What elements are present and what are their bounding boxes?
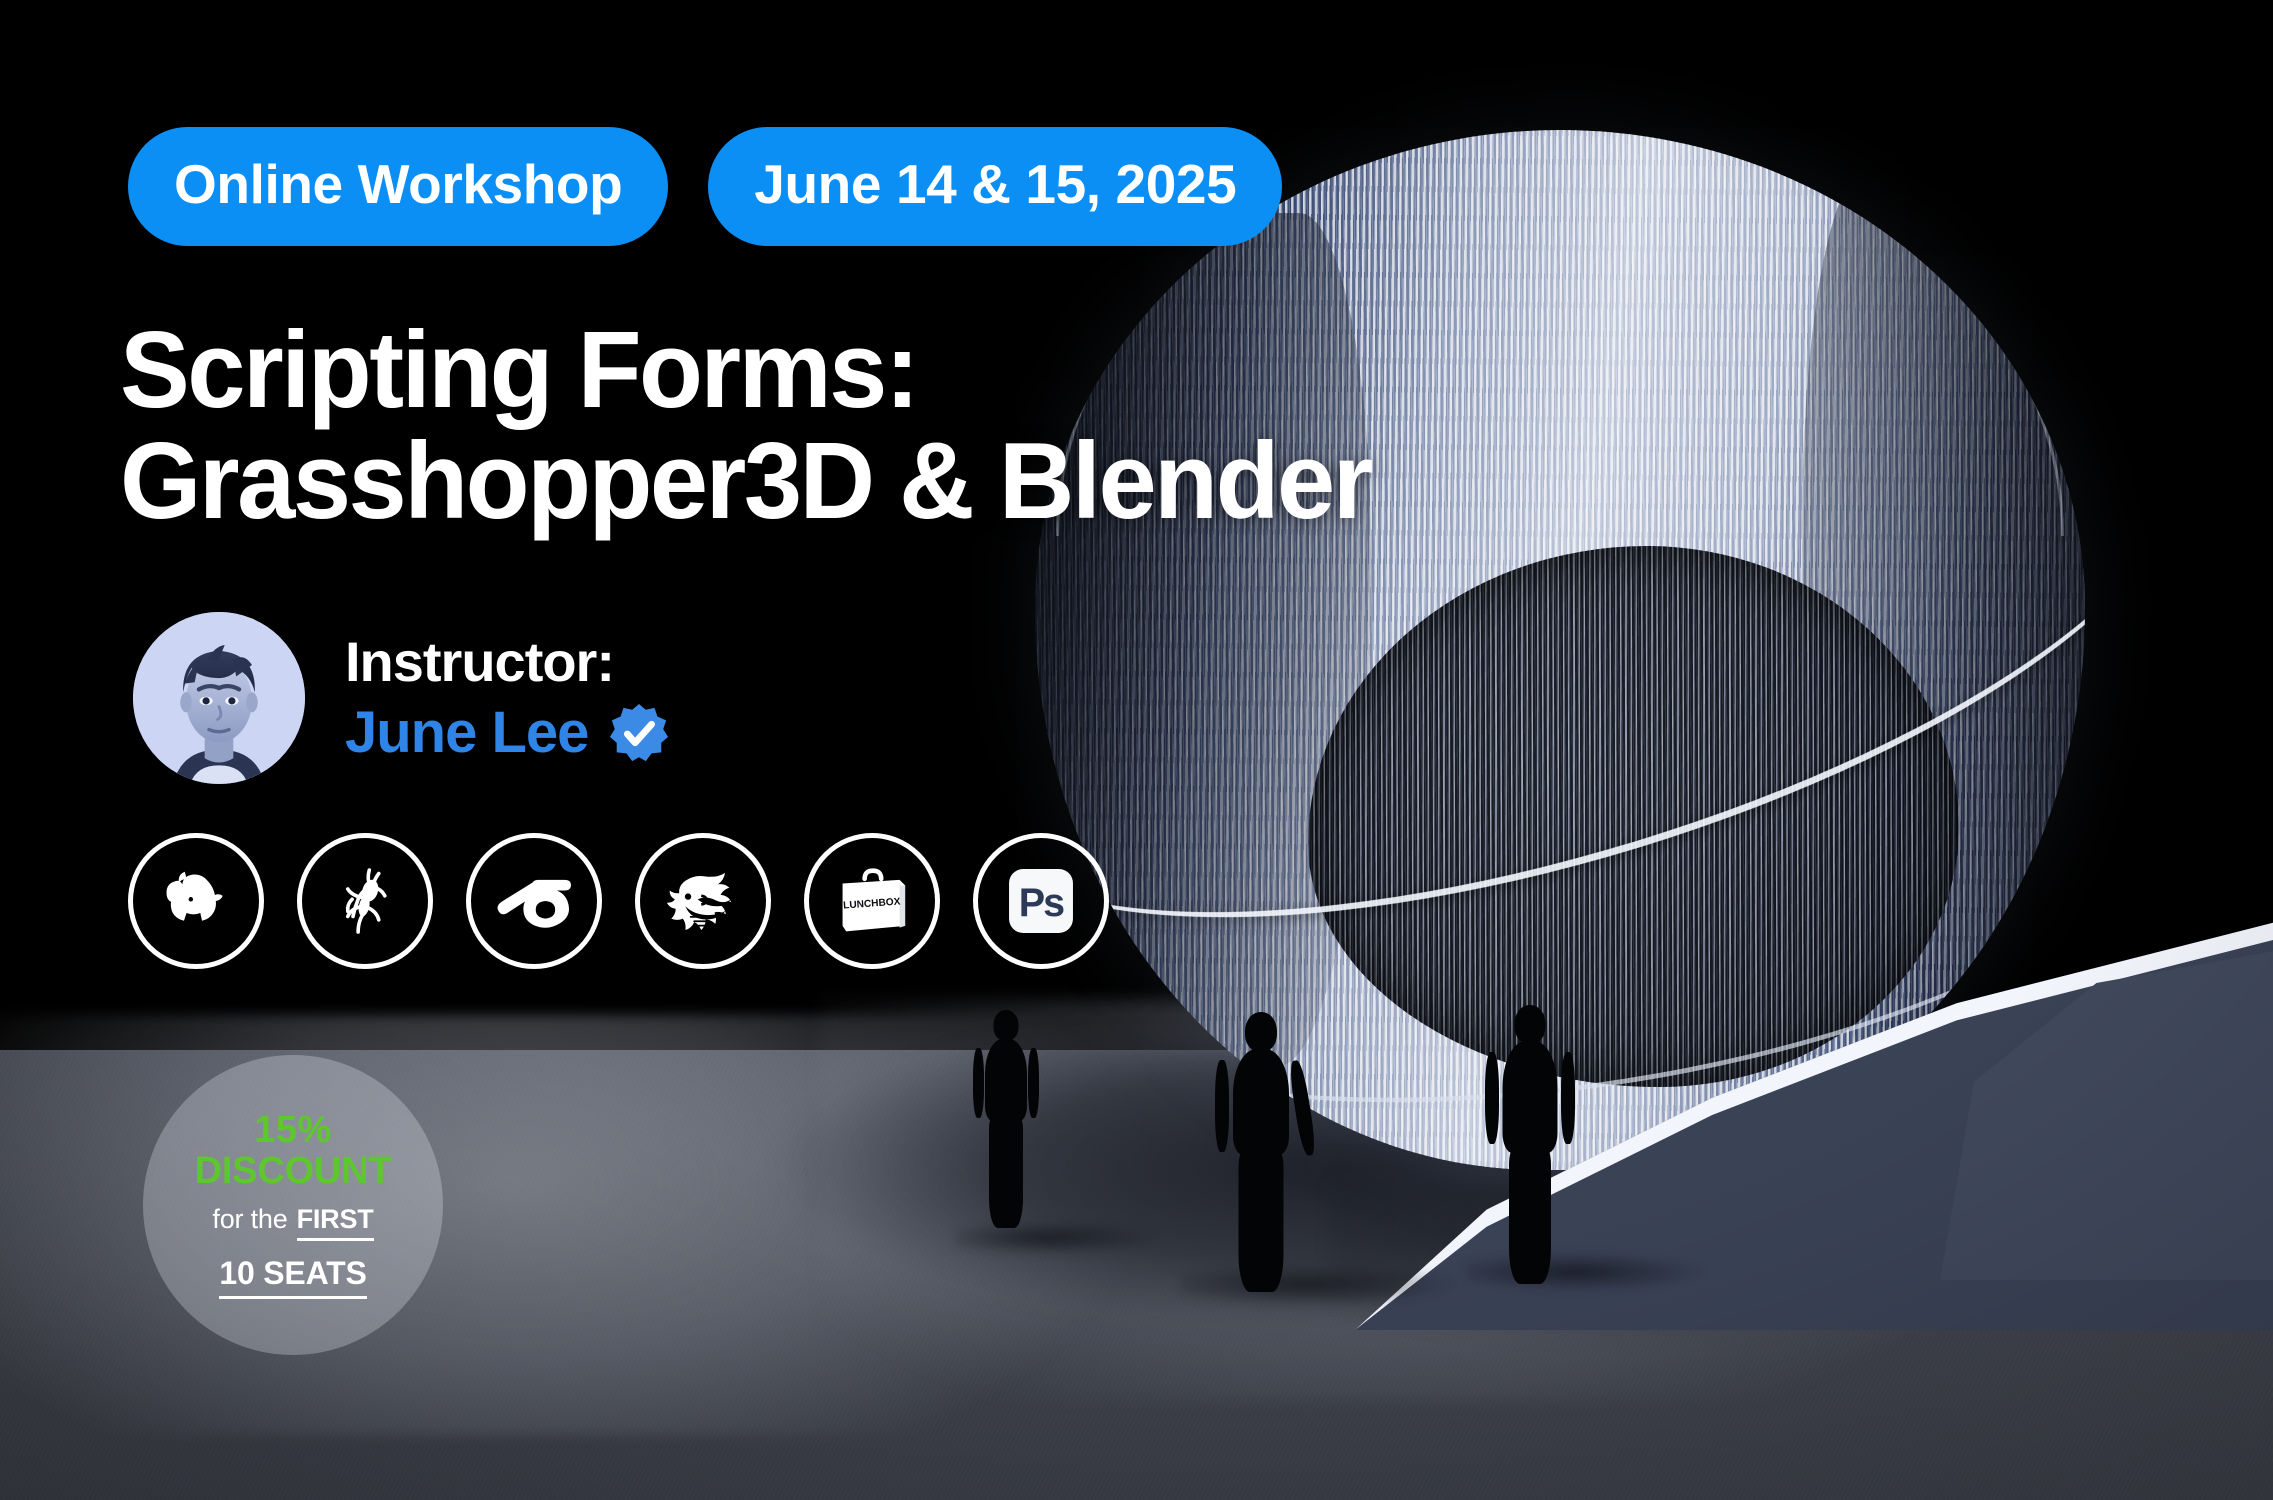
kangaroo-icon [659,857,747,945]
silhouette-figure-1 [975,1010,1037,1225]
verified-check-icon [608,702,670,764]
header-badges: Online Workshop June 14 & 15, 2025 [128,127,1282,246]
software-icon-blender[interactable] [466,833,602,969]
page-title: Scripting Forms: Grasshopper3D & Blender [120,315,1423,537]
discount-for-the-first: for the FIRST [212,1205,373,1242]
discount-word: DISCOUNT [195,1152,392,1192]
workshop-date-badge[interactable]: June 14 & 15, 2025 [708,127,1282,246]
pavilion-shade-right [1802,172,2086,1066]
instructor-label: Instructor: [345,629,670,695]
pavilion-interior-aperture [1308,546,1959,1087]
instructor-avatar-photo [133,612,305,784]
grasshopper-icon [322,858,408,944]
software-icon-rhino[interactable] [128,833,264,969]
software-icons-row: LUNCHBOX Ps [128,833,1109,969]
rhino-icon [153,858,239,944]
title-line-1: Scripting Forms: [120,315,1371,426]
instructor-text: Instructor: June Lee [345,629,670,768]
instructor-name-row: June Lee [345,699,670,767]
discount-badge[interactable]: 15% DISCOUNT for the FIRST 10 SEATS [143,1055,443,1355]
discount-seats: 10 SEATS [219,1257,366,1299]
software-icon-kangaroo[interactable] [635,833,771,969]
online-workshop-badge[interactable]: Online Workshop [128,127,668,246]
discount-percent: 15% [254,1111,332,1149]
avatar [133,612,305,784]
instructor-name: June Lee [345,699,588,767]
silhouette-figure-3 [1488,1005,1572,1277]
title-line-2: Grasshopper3D & Blender [120,426,1371,537]
silhouette-figure-2 [1218,1012,1304,1287]
photoshop-icon: Ps [994,854,1088,948]
photoshop-wordmark: Ps [1019,881,1064,925]
instructor-block: Instructor: June Lee [133,612,670,784]
discount-first-label: FIRST [297,1205,374,1242]
blender-icon [490,857,578,945]
lunchbox-icon: LUNCHBOX [826,855,918,947]
workshop-promo-banner: Online Workshop June 14 & 15, 2025 Scrip… [0,0,2273,1500]
discount-for-the-label: for the [212,1205,287,1235]
software-icon-photoshop[interactable]: Ps [973,833,1109,969]
software-icon-grasshopper[interactable] [297,833,433,969]
software-icon-lunchbox[interactable]: LUNCHBOX [804,833,940,969]
